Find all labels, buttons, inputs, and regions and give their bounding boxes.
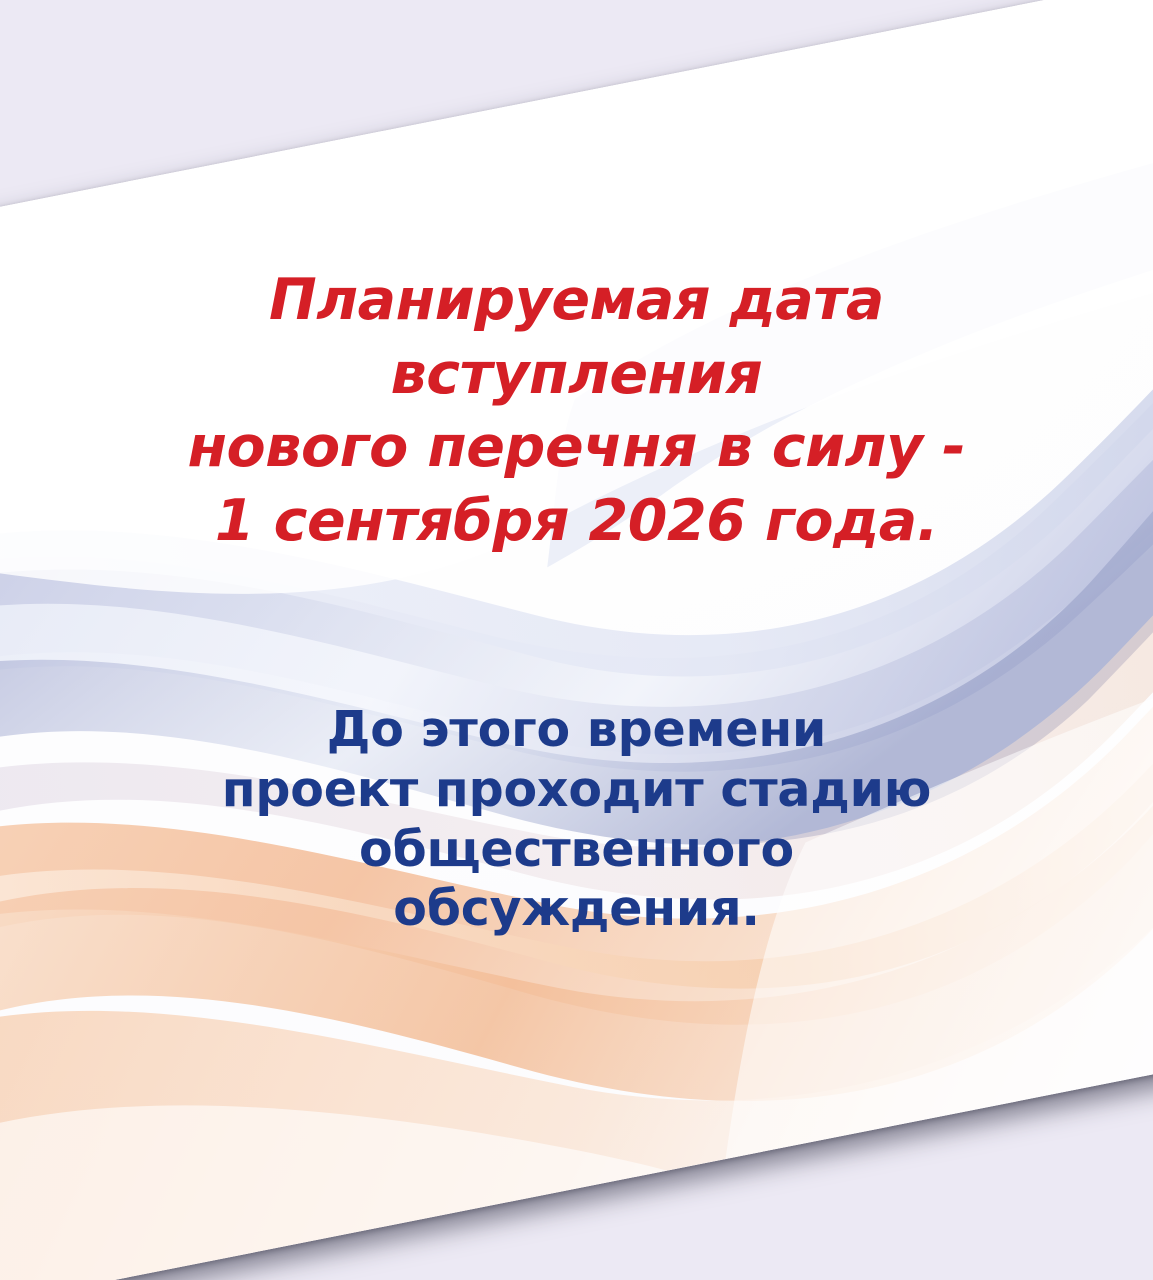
headline-text: Планируемая дата вступления нового переч… [0, 264, 1153, 558]
subline-text: До этого времени проект проходит стадию … [0, 700, 1153, 939]
slide-canvas: Планируемая дата вступления нового переч… [0, 0, 1153, 1280]
slide-text-layer: Планируемая дата вступления нового переч… [0, 0, 1153, 1280]
